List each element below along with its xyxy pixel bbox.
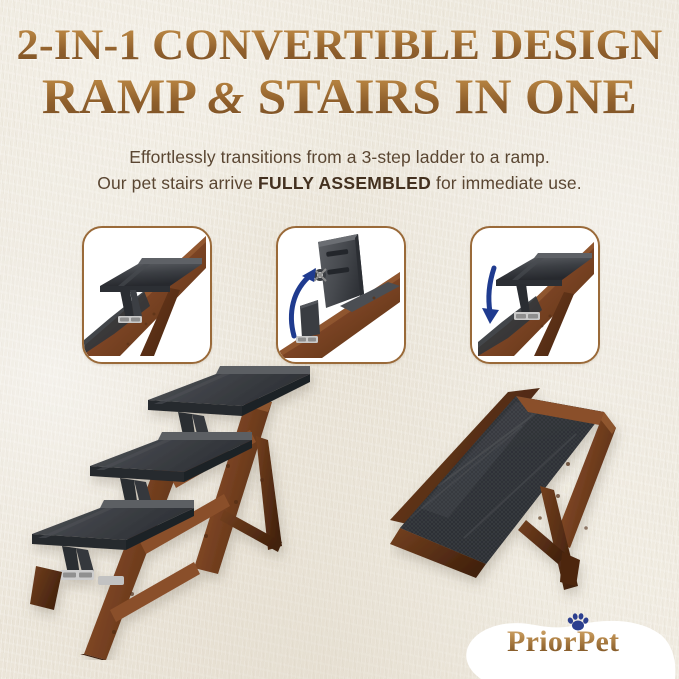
- subtitle-line2-before: Our pet stairs arrive: [97, 173, 258, 193]
- step-folding-up-illustration: [278, 228, 400, 358]
- step-folding-down-illustration: [472, 228, 594, 358]
- thumbnail-step-deployed: [82, 226, 212, 364]
- paw-print-icon: [567, 613, 589, 631]
- logo-wordmark: PriorPet: [507, 625, 619, 659]
- thumbnail-row: [0, 226, 679, 360]
- thumbnail-step-folding-up: [276, 226, 406, 364]
- thumbnail-1-image: [84, 228, 210, 362]
- headline-line-2: RAMP & STAIRS IN ONE: [0, 71, 679, 121]
- product-stairs-mode: [10, 360, 350, 660]
- headline-line2-after: STAIRS IN ONE: [244, 68, 637, 124]
- arrow-down-path: [489, 268, 494, 312]
- logo-prefix: Pri: [507, 625, 548, 658]
- headline-line2-before: RAMP: [42, 68, 208, 124]
- subtitle-line2-after: for immediate use.: [431, 173, 582, 193]
- subtitle-line-1: Effortlessly transitions from a 3-step l…: [129, 147, 550, 167]
- brand-logo: PriorPet: [447, 587, 679, 679]
- subtitle-block: Effortlessly transitions from a 3-step l…: [0, 144, 679, 197]
- subtitle-line-2: Our pet stairs arrive FULLY ASSEMBLED fo…: [0, 170, 679, 196]
- thumbnail-3-image: [472, 228, 598, 362]
- headline-ampersand: &: [207, 72, 244, 123]
- thumbnail-step-folding-down: [470, 226, 600, 364]
- headline-line-1: 2-IN-1 CONVERTIBLE DESIGN: [0, 24, 679, 67]
- logo-o: o: [548, 625, 563, 658]
- infographic-canvas: 2-IN-1 CONVERTIBLE DESIGN RAMP & STAIRS …: [0, 0, 679, 679]
- headline-block: 2-IN-1 CONVERTIBLE DESIGN RAMP & STAIRS …: [0, 24, 679, 121]
- subtitle-emphasis: FULLY ASSEMBLED: [258, 173, 431, 193]
- thumbnail-2-image: [278, 228, 404, 362]
- arrow-down-head: [482, 308, 499, 324]
- step-deployed-illustration: [84, 228, 206, 358]
